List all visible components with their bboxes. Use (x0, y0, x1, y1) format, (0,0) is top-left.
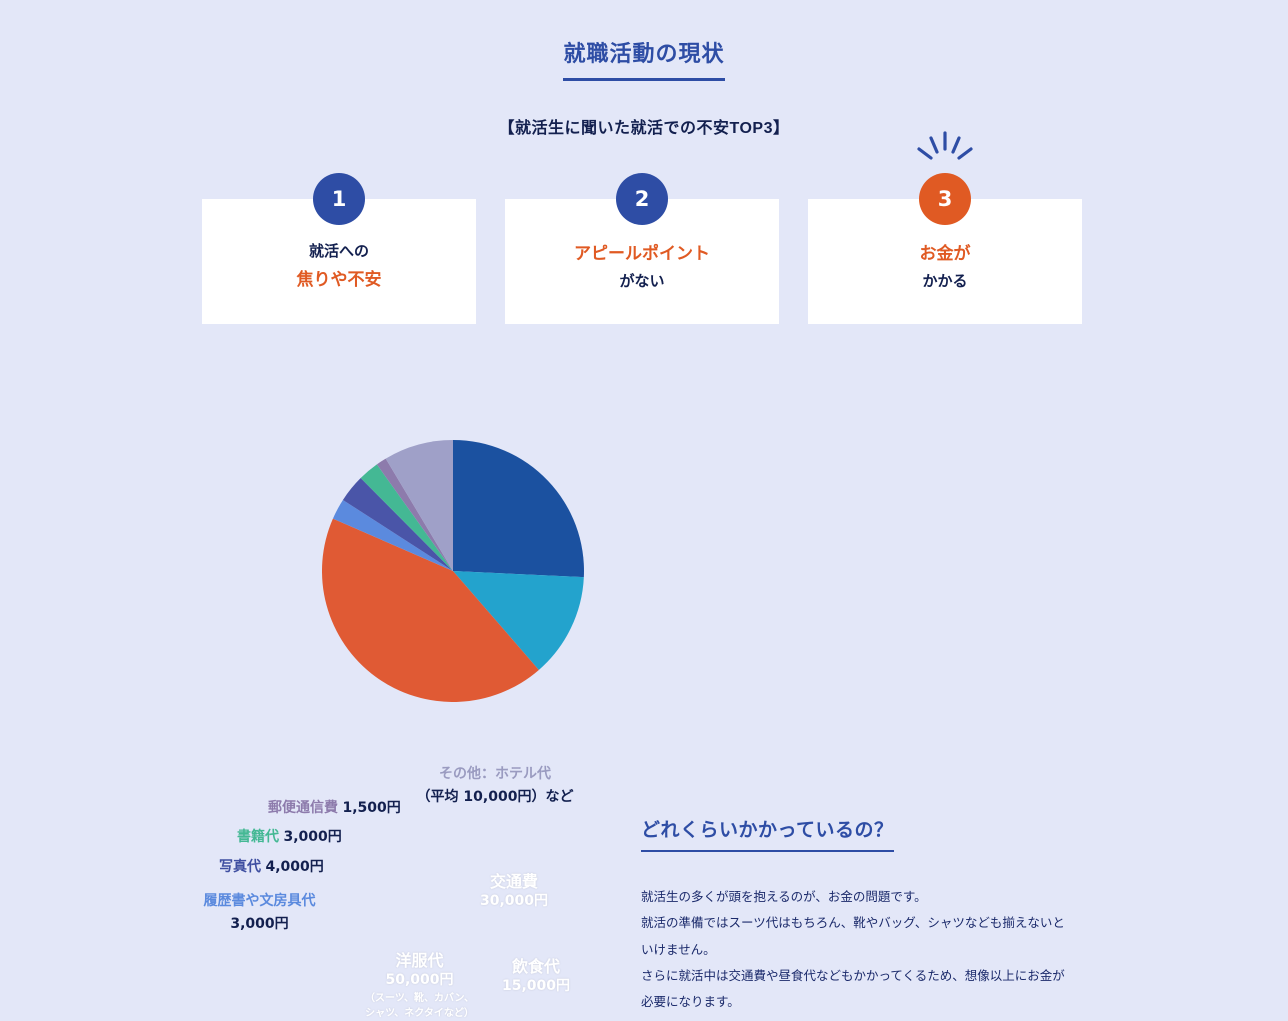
pie-label-transport: 交通費 30,000円 (468, 873, 560, 911)
pie-callout-postal-name: 郵便通信費 (268, 799, 338, 815)
sub-heading: 【就活生に聞いた就活での不安TOP3】 (0, 114, 1288, 138)
ranking-card-2: 2 アピールポイント がない (505, 199, 779, 324)
pie-callout-books-amount: 3,000円 (283, 829, 341, 845)
panel-paragraph-2: 就活の準備ではスーツ代はもちろん、靴やバッグ、シャツなども揃えないといけません。 (641, 910, 1073, 963)
pie-label-clothes-name: 洋服代 (362, 952, 477, 972)
ranking-card-1: 1 就活への 焦りや不安 (202, 199, 476, 324)
pie-callout-postal: 郵便通信費 1,500円 (268, 797, 401, 817)
panel-paragraph-1: 就活生の多くが頭を抱えるのが、お金の問題です。 (641, 884, 1073, 910)
pie-callout-other: その他：ホテル代 （平均 10,000円）など (415, 763, 575, 806)
ranking-card-2-line1: アピールポイント (505, 239, 779, 269)
pie-callout-photo-name: 写真代 (219, 858, 261, 874)
rank-badge-2: 2 (616, 173, 668, 225)
ranking-card-2-body: アピールポイント がない (505, 239, 779, 295)
pie-label-clothes: 洋服代 50,000円 （スーツ、靴、カバン、 シャツ、ネクタイなど） (362, 952, 477, 1021)
pie-label-transport-name: 交通費 (468, 873, 560, 893)
pie-label-food-name: 飲食代 (490, 958, 582, 978)
pie-label-clothes-amount: 50,000円 (362, 972, 477, 990)
pie-callout-books: 書籍代 3,000円 (237, 826, 342, 846)
ranking-card-3-line1: お金が (808, 239, 1082, 269)
pie-chart-svg (322, 440, 584, 702)
pie-slice (453, 440, 584, 577)
pie-chart (322, 440, 584, 702)
pie-callout-postal-amount: 1,500円 (342, 800, 400, 816)
sunburst-rays-icon (910, 127, 980, 171)
pie-callout-books-name: 書籍代 (237, 828, 279, 844)
ranking-card-1-line1: 就活への (202, 239, 476, 265)
pie-label-clothes-note2: シャツ、ネクタイなど） (362, 1007, 477, 1021)
pie-label-food-amount: 15,000円 (490, 978, 582, 996)
pie-callout-resume-name: 履歴書や文房具代 (197, 890, 322, 910)
infographic-page: 就職活動の現状 【就活生に聞いた就活での不安TOP3】 1 就活への 焦りや不安… (0, 0, 1288, 749)
panel-paragraph-3: さらに就活中は交通費や昼食代などもかかってくるため、想像以上にお金が必要になりま… (641, 963, 1073, 1016)
ranking-card-3-body: お金が かかる (808, 239, 1082, 295)
pie-label-food: 飲食代 15,000円 (490, 958, 582, 996)
pie-label-transport-amount: 30,000円 (468, 893, 560, 911)
page-title: 就職活動の現状 (563, 36, 724, 81)
pie-label-clothes-note1: （スーツ、靴、カバン、 (362, 992, 477, 1006)
pie-callout-other-name: その他：ホテル代 (415, 763, 575, 783)
ranking-card-1-body: 就活への 焦りや不安 (202, 239, 476, 295)
ranking-cards: 1 就活への 焦りや不安 2 アピールポイント がない (202, 199, 1082, 324)
panel-title: どれくらいかかっているの？ (641, 815, 894, 852)
ranking-card-3-line2: かかる (808, 269, 1082, 295)
rank-badge-3: 3 (919, 173, 971, 225)
pie-callout-other-amount: （平均 10,000円）など (415, 786, 575, 806)
rank-badge-1: 1 (313, 173, 365, 225)
ranking-card-2-line2: がない (505, 269, 779, 295)
explanation-panel: どれくらいかかっているの？ 就活生の多くが頭を抱えるのが、お金の問題です。 就活… (641, 815, 1073, 1015)
pie-callout-photo: 写真代 4,000円 (219, 856, 324, 876)
panel-body: 就活生の多くが頭を抱えるのが、お金の問題です。 就活の準備ではスーツ代はもちろん… (641, 884, 1073, 1015)
section-title-container: 就職活動の現状 (0, 36, 1288, 81)
ranking-card-3: 3 お金が かかる (808, 199, 1082, 324)
cost-breakdown-section: 交通費 30,000円 飲食代 15,000円 洋服代 50,000円 （スーツ… (0, 378, 1288, 718)
ranking-card-1-line2: 焦りや不安 (202, 265, 476, 295)
pie-callout-resume: 履歴書や文房具代 3,000円 (197, 890, 322, 933)
pie-callout-resume-amount: 3,000円 (197, 913, 322, 933)
pie-callout-photo-amount: 4,000円 (265, 859, 323, 875)
